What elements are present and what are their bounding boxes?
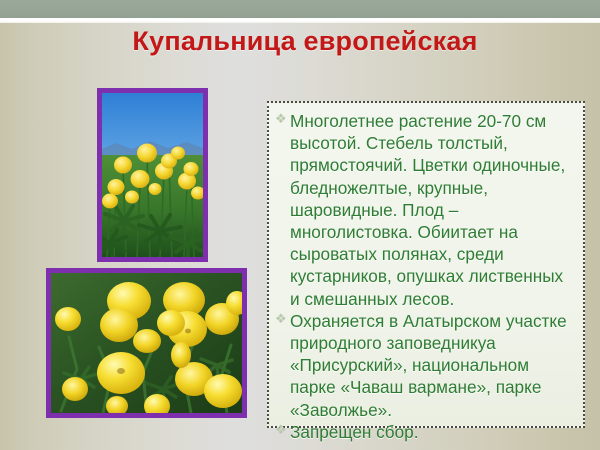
diamond-bullet-icon: ❖ — [275, 313, 287, 325]
meadow-illustration — [102, 93, 203, 257]
description-text-box: ❖ Многолетнее растение 20-70 см высотой.… — [267, 101, 585, 428]
list-item-text: Запрещен сбор. — [290, 422, 418, 442]
globeflower-meadow-photo — [97, 88, 208, 262]
list-item-text: Многолетнее растение 20-70 см высотой. С… — [290, 111, 565, 309]
closeup-illustration — [51, 273, 242, 413]
page-title: Купальница европейская — [60, 26, 550, 57]
list-item: ❖ Многолетнее растение 20-70 см высотой.… — [275, 110, 575, 310]
list-item: ❖ Охраняется в Алатырском участке природ… — [275, 310, 575, 421]
list-item: ❖ Запрещен сбор. — [275, 421, 575, 443]
top-accent-bar — [0, 0, 600, 18]
globeflower-meadow-photo-image — [102, 93, 203, 257]
top-white-rule — [0, 18, 600, 23]
slide-canvas: Купальница европейская — [0, 0, 600, 450]
globeflower-closeup-photo-image — [51, 273, 242, 413]
globeflower-closeup-photo — [46, 268, 247, 418]
list-item-text: Охраняется в Алатырском участке природно… — [290, 311, 567, 420]
bullet-list: ❖ Многолетнее растение 20-70 см высотой.… — [275, 110, 575, 443]
diamond-bullet-icon: ❖ — [275, 424, 287, 436]
diamond-bullet-icon: ❖ — [275, 113, 287, 125]
